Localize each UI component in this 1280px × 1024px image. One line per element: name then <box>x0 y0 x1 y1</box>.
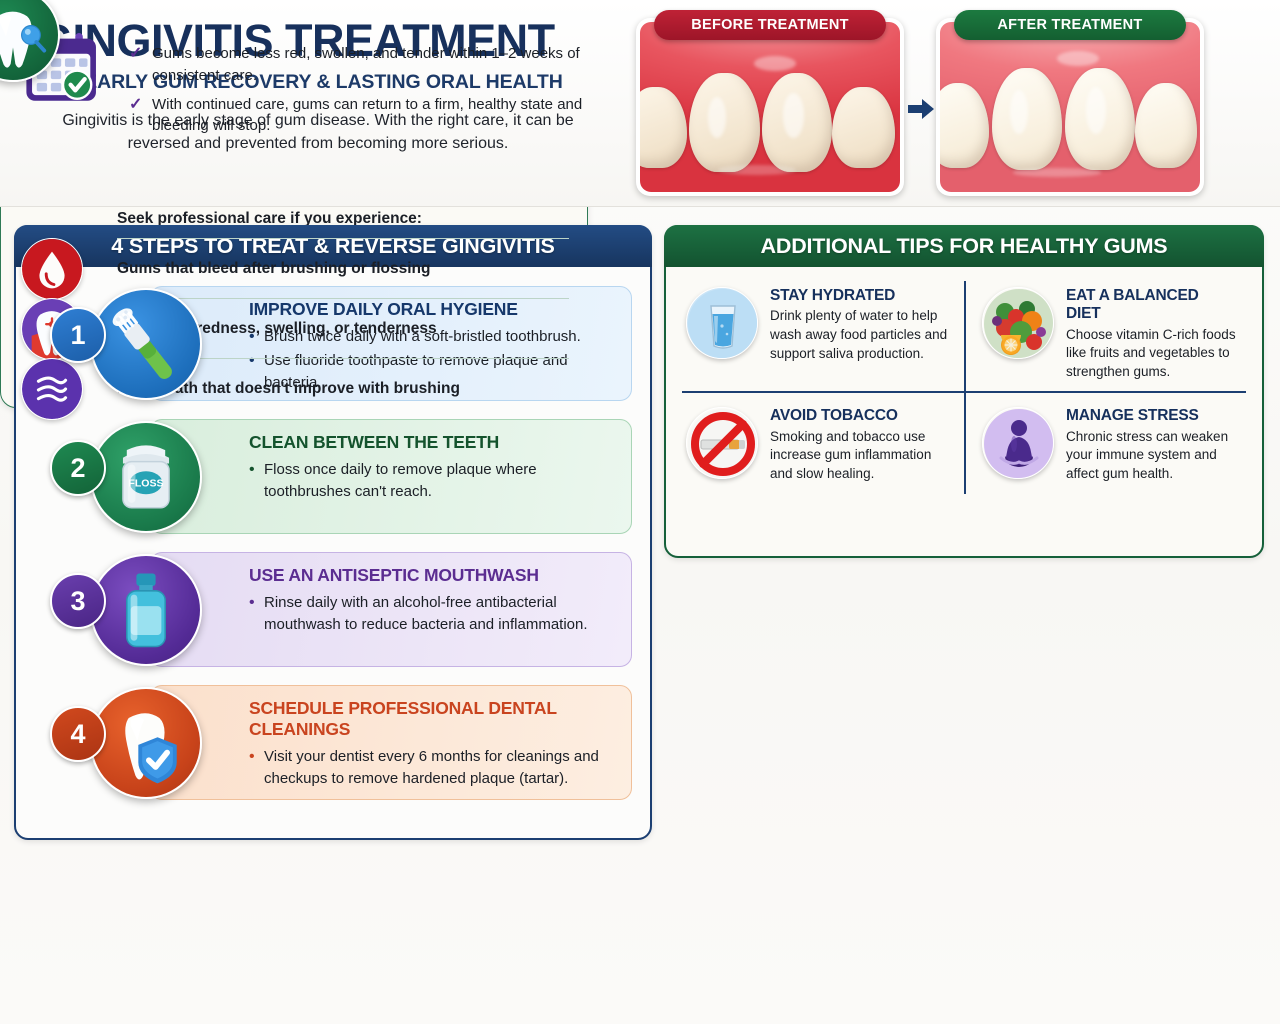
step-card-2: CLEAN BETWEEN THE TEETH Floss once daily… <box>150 419 632 534</box>
inflamed-gums-image <box>640 22 900 192</box>
blood-drop-icon <box>21 238 83 300</box>
after-treatment-photo <box>936 18 1204 196</box>
dental-floss-icon: FLOSS <box>90 421 202 533</box>
step-bullet: Visit your dentist every 6 months for cl… <box>249 746 617 790</box>
toothbrush-icon <box>90 288 202 400</box>
step-title-3: USE AN ANTISEPTIC MOUTHWASH <box>249 565 617 586</box>
tip-title: STAY HYDRATED <box>770 287 954 305</box>
step-title-4: SCHEDULE PROFESSIONAL DENTAL CLEANINGS <box>249 698 617 740</box>
step-number-2: 2 <box>50 440 106 496</box>
fruits-vegetables-icon <box>982 287 1054 359</box>
symptom-item-bleeding[interactable]: Gums that bleed after brushing or flossi… <box>117 238 569 298</box>
tooth-shield-icon <box>90 687 202 799</box>
tips-grid: STAY HYDRATED Drink plenty of water to h… <box>666 267 1262 506</box>
infographic-page: GINGIVITIS TREATMENT FOR EARLY GUM RECOV… <box>0 0 1280 1024</box>
after-treatment-badge: AFTER TREATMENT <box>954 10 1186 40</box>
step-card-4: SCHEDULE PROFESSIONAL DENTAL CLEANINGS V… <box>150 685 632 800</box>
tip-item-manage-stress[interactable]: MANAGE STRESS Chronic stress can weaken … <box>964 391 1246 493</box>
tip-description: Chronic stress can weaken your immune sy… <box>1066 428 1236 484</box>
step-card-3: USE AN ANTISEPTIC MOUTHWASH Rinse daily … <box>150 552 632 667</box>
tip-item-stay-hydrated[interactable]: STAY HYDRATED Drink plenty of water to h… <box>682 281 964 391</box>
additional-tips-panel: ADDITIONAL TIPS FOR HEALTHY GUMS STAY <box>664 225 1264 558</box>
step-bullets-2: Floss once daily to remove plaque where … <box>249 459 617 503</box>
tip-title: MANAGE STRESS <box>1066 407 1236 425</box>
step-number-3: 3 <box>50 573 106 629</box>
step-bullets-3: Rinse daily with an alcohol-free antibac… <box>249 592 617 636</box>
step-bullet: Rinse daily with an alcohol-free antibac… <box>249 592 617 636</box>
before-after-comparison: BEFORE TREATMENT AFTER TREATMENT <box>636 10 1266 196</box>
tip-description: Drink plenty of water to help wash away … <box>770 307 954 363</box>
no-smoking-icon <box>686 407 758 479</box>
step-item-4[interactable]: SCHEDULE PROFESSIONAL DENTAL CLEANINGS V… <box>32 679 634 806</box>
mouthwash-bottle-icon <box>90 554 202 666</box>
list-item: Gums become less red, swollen, and tende… <box>129 43 621 87</box>
transformation-arrow-icon <box>908 98 934 120</box>
step-number-1: 1 <box>50 307 106 363</box>
tooth-checkup-icon <box>0 0 60 82</box>
healthy-gums-image <box>940 22 1200 192</box>
before-treatment-badge: BEFORE TREATMENT <box>654 10 886 40</box>
before-treatment-photo <box>636 18 904 196</box>
tip-description: Choose vitamin C-rich foods like fruits … <box>1066 326 1236 382</box>
tip-title: EAT A BALANCED DIET <box>1066 287 1236 324</box>
tip-description: Smoking and tobacco use increase gum inf… <box>770 428 954 484</box>
tip-title: AVOID TOBACCO <box>770 407 954 425</box>
step-item-2[interactable]: CLEAN BETWEEN THE TEETH Floss once daily… <box>32 413 634 540</box>
list-item: With continued care, gums can return to … <box>129 94 621 138</box>
tip-item-avoid-tobacco[interactable]: AVOID TOBACCO Smoking and tobacco use in… <box>682 391 964 493</box>
tips-panel-heading: ADDITIONAL TIPS FOR HEALTHY GUMS <box>664 225 1264 267</box>
step-bullet: Floss once daily to remove plaque where … <box>249 459 617 503</box>
step-bullets-4: Visit your dentist every 6 months for cl… <box>249 746 617 790</box>
tip-item-balanced-diet[interactable]: EAT A BALANCED DIET Choose vitamin C-ric… <box>964 281 1246 391</box>
bad-breath-icon <box>21 358 83 420</box>
step-title-2: CLEAN BETWEEN THE TEETH <box>249 432 617 453</box>
tip-text-balanced-diet: EAT A BALANCED DIET Choose vitamin C-ric… <box>1066 287 1236 381</box>
tip-text-manage-stress: MANAGE STRESS Chronic stress can weaken … <box>1066 407 1236 483</box>
step-item-3[interactable]: USE AN ANTISEPTIC MOUTHWASH Rinse daily … <box>32 546 634 673</box>
tip-text-avoid-tobacco: AVOID TOBACCO Smoking and tobacco use in… <box>770 407 954 483</box>
step-number-4: 4 <box>50 706 106 762</box>
meditation-icon <box>982 407 1054 479</box>
water-glass-icon <box>686 287 758 359</box>
tip-text-stay-hydrated: STAY HYDRATED Drink plenty of water to h… <box>770 287 954 381</box>
symptom-text: Gums that bleed after brushing or flossi… <box>117 260 430 278</box>
